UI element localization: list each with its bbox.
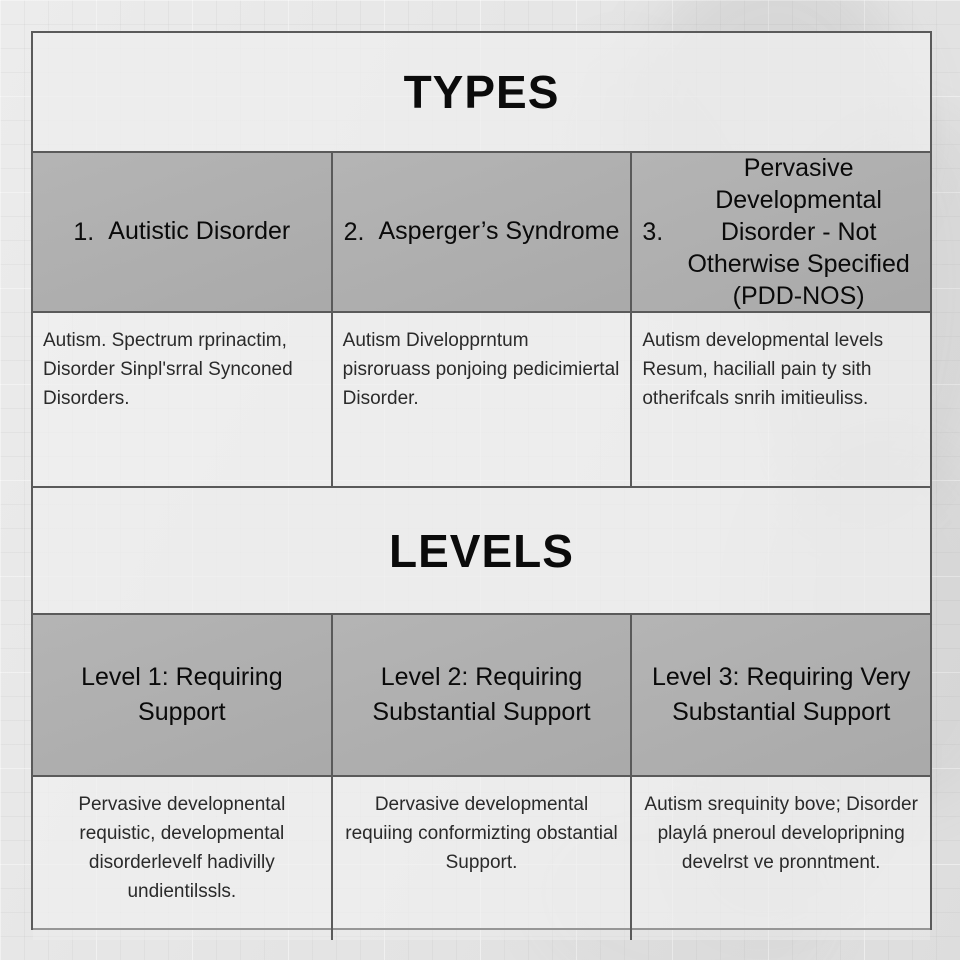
levels-body-text-3: Autism srequinity bove; Disorder playlá … [642,791,920,878]
levels-section-title-row: LEVELS [33,486,930,613]
types-body-text-1: Autism. Spectrum rprinactim, Disorder Si… [43,327,321,414]
types-body-row: Autism. Spectrum rprinactim, Disorder Si… [33,313,930,486]
levels-body-text-2: Dervasive developmental requiing conform… [343,791,621,878]
types-number-1: 1. [73,218,94,247]
types-header-cell-2[interactable]: 2. Asperger’s Syndrome [331,153,631,311]
levels-body-text-1: Pervasive developnental requistic, devel… [43,791,321,907]
types-section-title: TYPES [404,69,560,115]
types-body-cell-2: Autism Divelopprntum pisroruass ponjoing… [331,313,631,486]
levels-body-cell-2: Dervasive developmental requiing conform… [331,777,631,940]
types-heading-group-1: 1. Autistic Disorder [43,215,321,249]
levels-body-row: Pervasive developnental requistic, devel… [33,777,930,940]
comparison-table: TYPES 1. Autistic Disorder 2. Asperger’s… [31,31,932,930]
types-heading-3: Pervasive Developmental Disorder - Not O… [677,152,920,312]
types-body-cell-3: Autism developmental levels Resum, hacil… [630,313,930,486]
levels-header-row: Level 1: Requiring Support Level 2: Requ… [33,613,930,777]
types-number-3: 3. [642,218,663,247]
levels-header-cell-3[interactable]: Level 3: Requiring Very Substantial Supp… [630,615,930,775]
levels-header-cell-2[interactable]: Level 2: Requiring Substantial Support [331,615,631,775]
levels-heading-3: Level 3: Requiring Very Substantial Supp… [642,660,920,731]
types-heading-1: Autistic Disorder [108,215,290,249]
types-heading-group-3: 3. Pervasive Developmental Disorder - No… [642,152,920,312]
levels-body-cell-1: Pervasive developnental requistic, devel… [33,777,331,940]
levels-header-cell-1[interactable]: Level 1: Requiring Support [33,615,331,775]
types-number-2: 2. [344,218,365,247]
levels-body-cell-3: Autism srequinity bove; Disorder playlá … [630,777,930,940]
types-heading-2: Asperger’s Syndrome [379,215,620,249]
levels-section-title: LEVELS [389,528,574,574]
levels-heading-1: Level 1: Requiring Support [43,660,321,731]
types-section-title-row: TYPES [33,33,930,151]
types-body-text-3: Autism developmental levels Resum, hacil… [642,327,920,414]
types-body-cell-1: Autism. Spectrum rprinactim, Disorder Si… [33,313,331,486]
levels-heading-2: Level 2: Requiring Substantial Support [343,660,621,731]
types-heading-group-2: 2. Asperger’s Syndrome [343,215,621,249]
types-header-cell-1[interactable]: 1. Autistic Disorder [33,153,331,311]
types-header-row: 1. Autistic Disorder 2. Asperger’s Syndr… [33,151,930,313]
types-body-text-2: Autism Divelopprntum pisroruass ponjoing… [343,327,621,414]
types-header-cell-3[interactable]: 3. Pervasive Developmental Disorder - No… [630,153,930,311]
